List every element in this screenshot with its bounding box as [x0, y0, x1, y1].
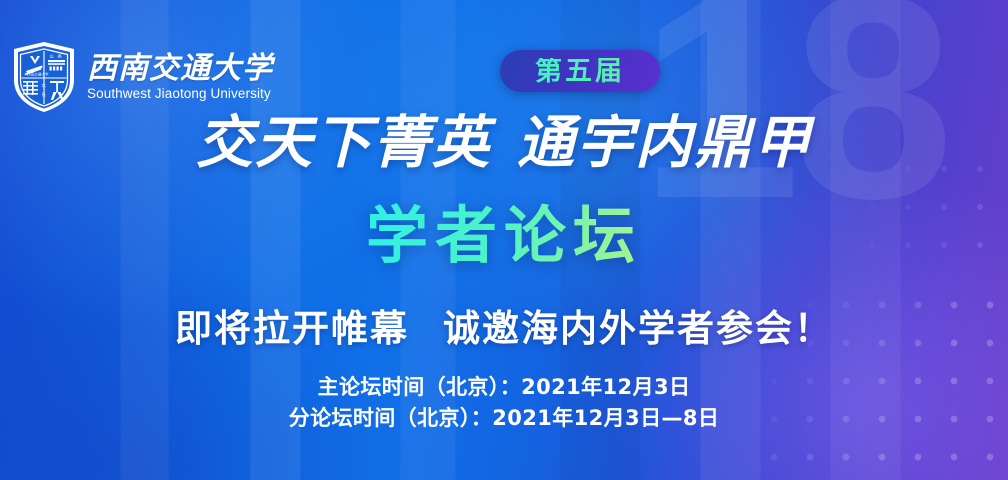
headline: 交天下菁英通宇内鼎甲 — [0, 112, 1008, 176]
event-banner: 18 山 高 — [0, 0, 1008, 480]
svg-text:高: 高 — [58, 53, 62, 60]
edition-badge: 第五届 — [500, 50, 660, 92]
university-logo-lockup: 山 高 西南交通大学 水 长 — [10, 40, 273, 114]
edition-badge-label: 第五届 — [535, 58, 625, 85]
tagline-part-2: 诚邀海内外学者参会！ — [443, 307, 833, 350]
schedule-row: 主论坛时间（北京）：2021年12月3日 — [0, 372, 1008, 403]
schedule-value: 2021年12月3日—8日 — [492, 406, 719, 430]
schedule-label: 主论坛时间（北京）： — [318, 375, 522, 399]
schedule-label: 分论坛时间（北京）： — [289, 406, 493, 430]
tagline-part-1: 即将拉开帷幕 — [175, 307, 409, 350]
headline-part-1: 交天下菁英 — [196, 110, 491, 176]
university-name-cn: 西南交通大学 — [87, 53, 273, 85]
svg-text:西南交通大学: 西南交通大学 — [27, 72, 49, 77]
logo-text-block: 西南交通大学 Southwest Jiaotong University — [87, 53, 273, 101]
glow-bottom-left — [0, 260, 420, 480]
svg-text:水: 水 — [42, 82, 47, 89]
forum-title-text: 学者论坛 — [366, 199, 642, 272]
shield-crest-icon: 山 高 西南交通大学 水 长 — [10, 40, 78, 114]
schedule-row: 分论坛时间（北京）：2021年12月3日—8日 — [0, 403, 1008, 434]
tagline: 即将拉开帷幕诚邀海内外学者参会！ — [0, 308, 1008, 351]
forum-title: 学者论坛 — [0, 200, 1008, 271]
svg-text:山: 山 — [50, 53, 54, 60]
university-name-en: Southwest Jiaotong University — [87, 86, 273, 101]
svg-text:长: 长 — [42, 91, 47, 98]
schedule-block: 主论坛时间（北京）：2021年12月3日 分论坛时间（北京）：2021年12月3… — [0, 372, 1008, 434]
schedule-value: 2021年12月3日 — [521, 375, 690, 399]
headline-part-2: 通宇内鼎甲 — [517, 110, 812, 176]
